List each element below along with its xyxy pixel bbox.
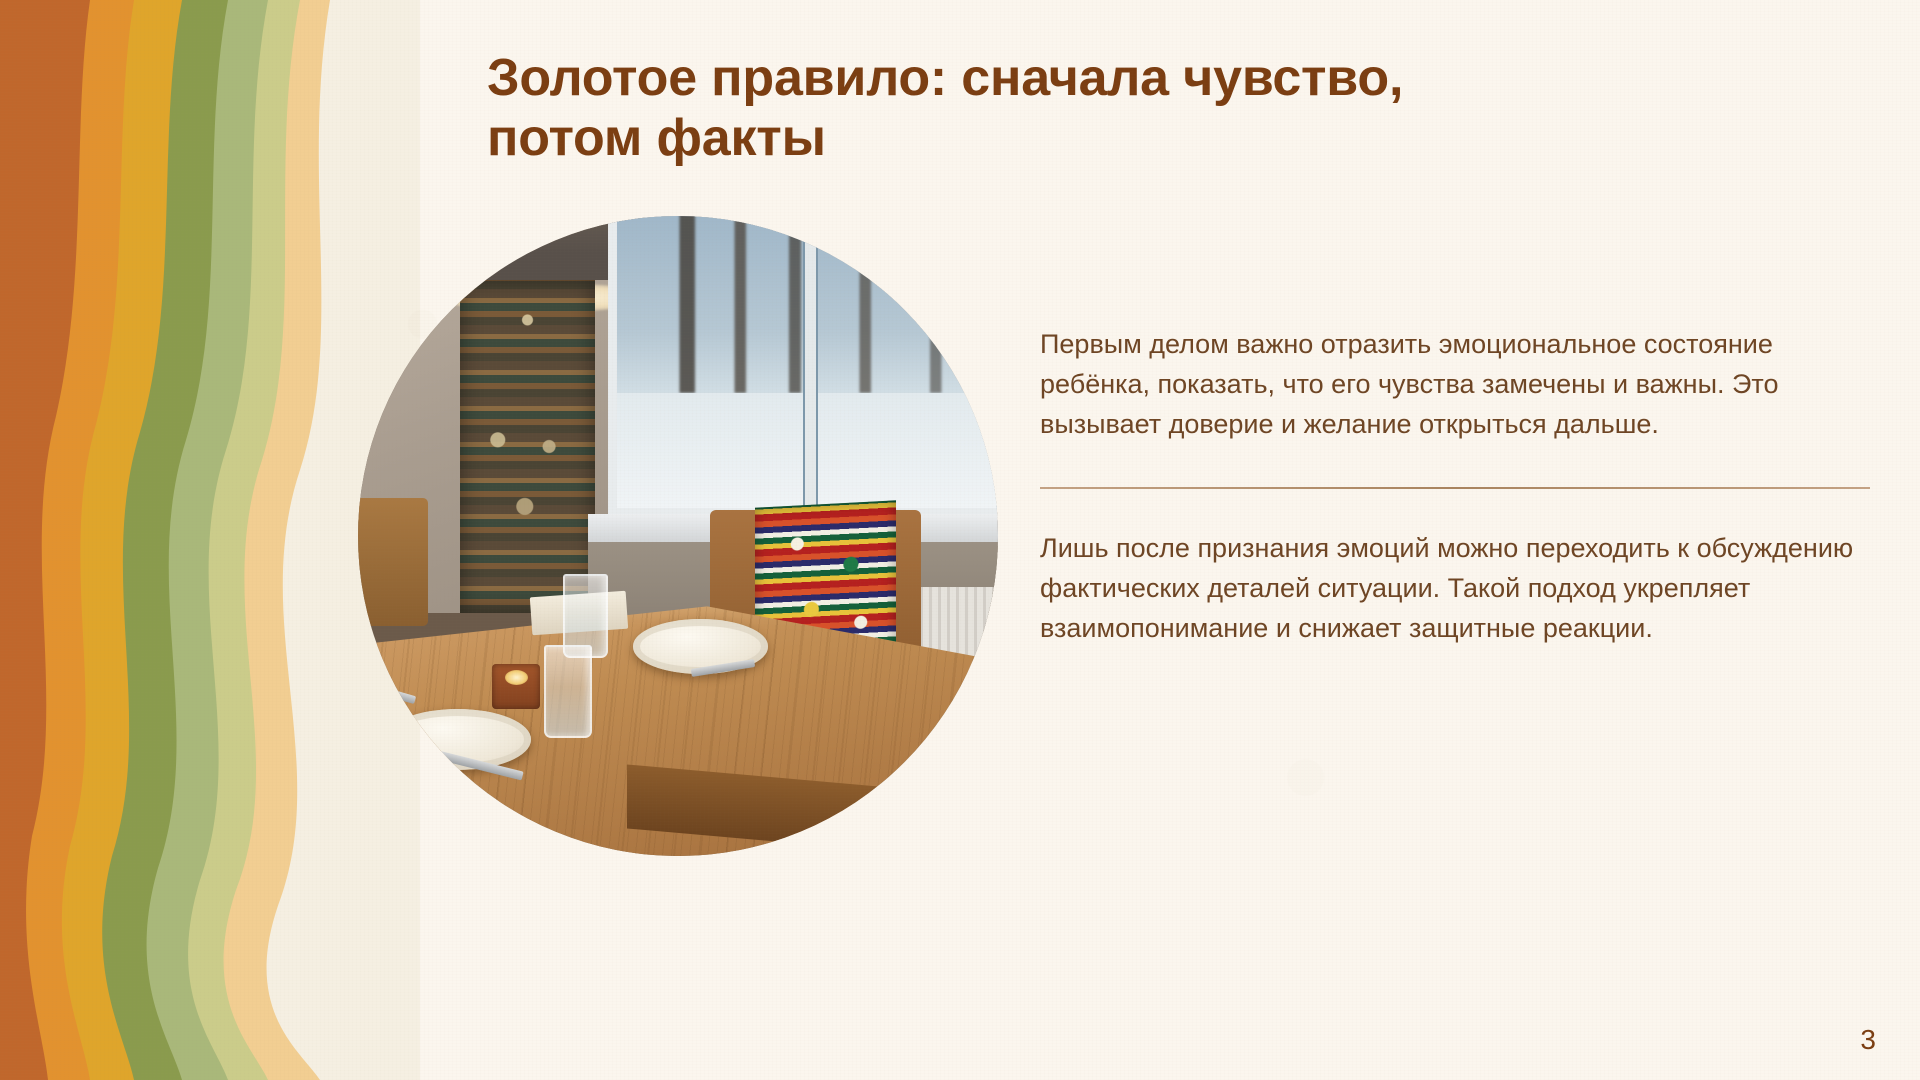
candle-holder	[492, 664, 540, 709]
text-column: Первым делом важно отразить эмоционально…	[1040, 325, 1870, 649]
wave-decoration-graphic	[0, 0, 420, 1080]
body-paragraph-1: Первым делом важно отразить эмоционально…	[1040, 325, 1870, 445]
patterned-wall-rug	[460, 280, 594, 613]
page-title: Золотое правило: сначала чувство, потом …	[487, 48, 1487, 169]
page-number: 3	[1860, 1024, 1876, 1056]
title-block: Золотое правило: сначала чувство, потом …	[487, 48, 1487, 169]
body-paragraph-2: Лишь после признания эмоций можно перехо…	[1040, 529, 1870, 649]
presentation-slide: Золотое правило: сначала чувство, потом …	[0, 0, 1920, 1080]
window-frame	[608, 216, 998, 517]
wooden-chair-left	[358, 498, 428, 626]
photo-scene	[358, 216, 998, 856]
paragraph-divider	[1040, 487, 1870, 489]
dining-table-photo	[358, 216, 998, 856]
drinking-glass-front	[544, 645, 592, 738]
window-mullion	[805, 216, 816, 508]
